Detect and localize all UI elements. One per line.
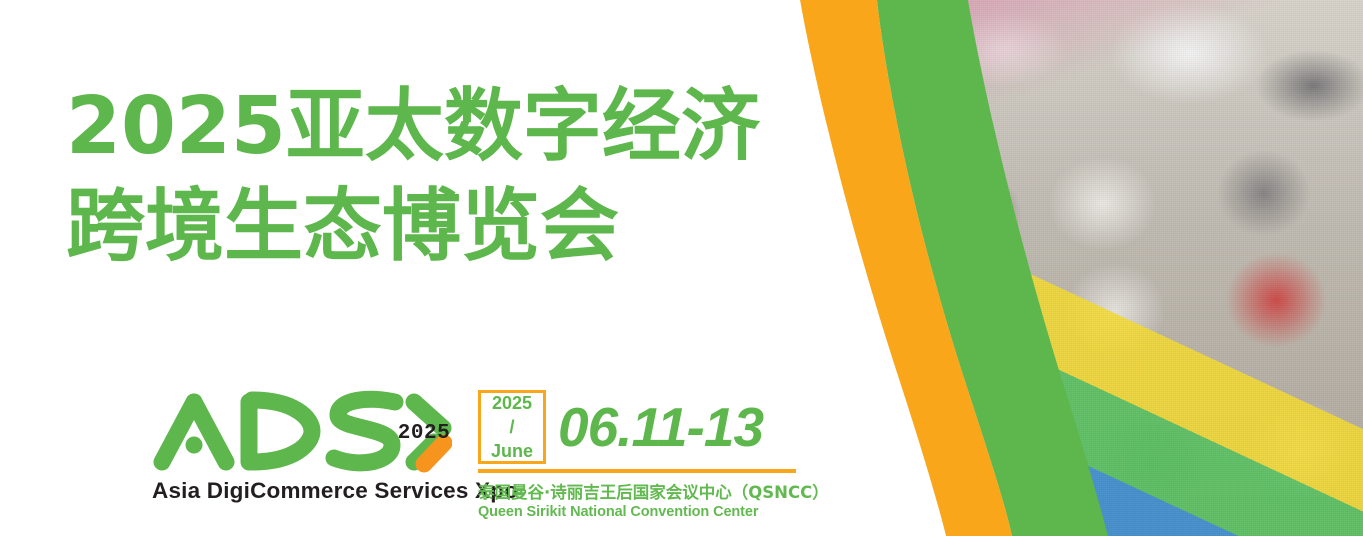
date-range: 06.11-13 [558,400,763,455]
venue-name-en: Queen Sirikit National Convention Center [478,504,808,520]
page-title: 2025亚太数字经济 跨境生态博览会 [66,76,846,277]
headline-line-1: 2025亚太数字经济 [66,76,846,176]
event-banner: 2025亚太数字经济 跨境生态博览会 [0,0,1363,536]
svg-text:2025: 2025 [398,422,450,445]
badge-year: 2025 [492,391,532,415]
year-month-badge: 2025 / June [478,390,546,464]
badge-month: June [491,439,533,463]
headline-line-2: 跨境生态博览会 [66,176,846,276]
adsx-logo-icon: 2025 [152,388,452,474]
logo-tagline: Asia DigiCommerce Services Xpo [152,478,462,504]
badge-separator: / [509,415,514,439]
left-content: 2025亚太数字经济 跨境生态博览会 [0,0,860,536]
venue-name-cn: 泰国曼谷·诗丽吉王后国家会议中心（QSNCC） [478,479,808,503]
date-underline-rule [478,469,796,473]
date-row: 2025 / June 06.11-13 [478,388,808,466]
date-venue-block: 2025 / June 06.11-13 泰国曼谷·诗丽吉王后国家会议中心（QS… [478,388,808,520]
adsx-logo: 2025 Asia DigiCommerce Services Xpo [152,388,462,504]
